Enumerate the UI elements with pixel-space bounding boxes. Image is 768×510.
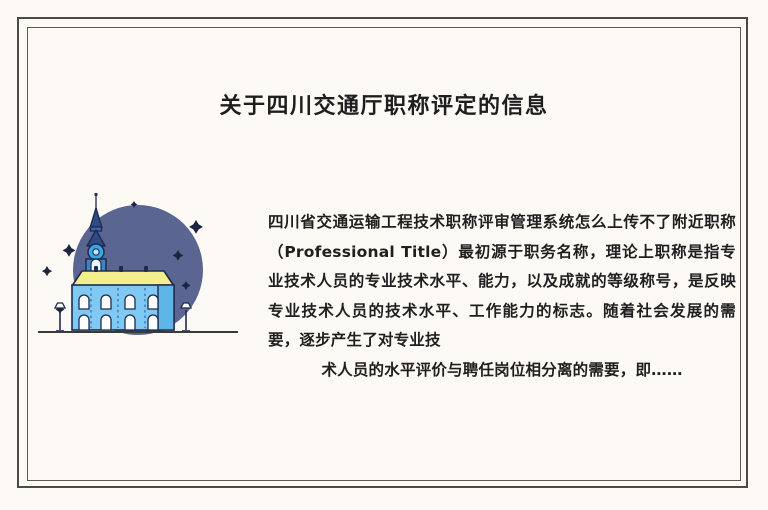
sparkle-star-icon <box>42 266 52 276</box>
lamp-head <box>181 303 191 308</box>
roof-finial <box>94 266 98 272</box>
sparkle-star-icon <box>63 244 76 257</box>
paragraph-last-line: 术人员的水平评价与聘任岗位相分离的需要，即…… <box>268 356 736 386</box>
paragraph-line: 四川省交通运输工程技术职称评审管理系统怎么上传不了 <box>268 213 672 231</box>
church-building-night-illustration <box>38 188 248 348</box>
arched-window <box>148 295 158 309</box>
building-roof <box>72 271 174 286</box>
street-lamp-left <box>55 303 65 331</box>
roof-finial <box>119 266 123 272</box>
arched-window <box>101 295 111 309</box>
article-illustration <box>38 188 248 348</box>
building-side-wing <box>158 285 174 330</box>
arched-window <box>125 295 135 309</box>
arched-door <box>79 315 89 330</box>
article-page: 关于四川交通厅职称评定的信息 <box>0 0 768 510</box>
roof-finial <box>144 266 148 272</box>
lamp-head <box>55 303 65 308</box>
article-paragraph: 四川省交通运输工程技术职称评审管理系统怎么上传不了附近职称（Profession… <box>268 208 736 385</box>
spire-finial-ball <box>94 193 97 196</box>
page-title: 关于四川交通厅职称评定的信息 <box>0 91 768 123</box>
arched-door <box>101 315 111 330</box>
tower-clock-face <box>93 249 99 255</box>
arched-door <box>148 315 158 330</box>
sparkle-star-icon <box>189 220 203 234</box>
arched-door <box>125 315 135 330</box>
arched-window <box>79 295 89 309</box>
